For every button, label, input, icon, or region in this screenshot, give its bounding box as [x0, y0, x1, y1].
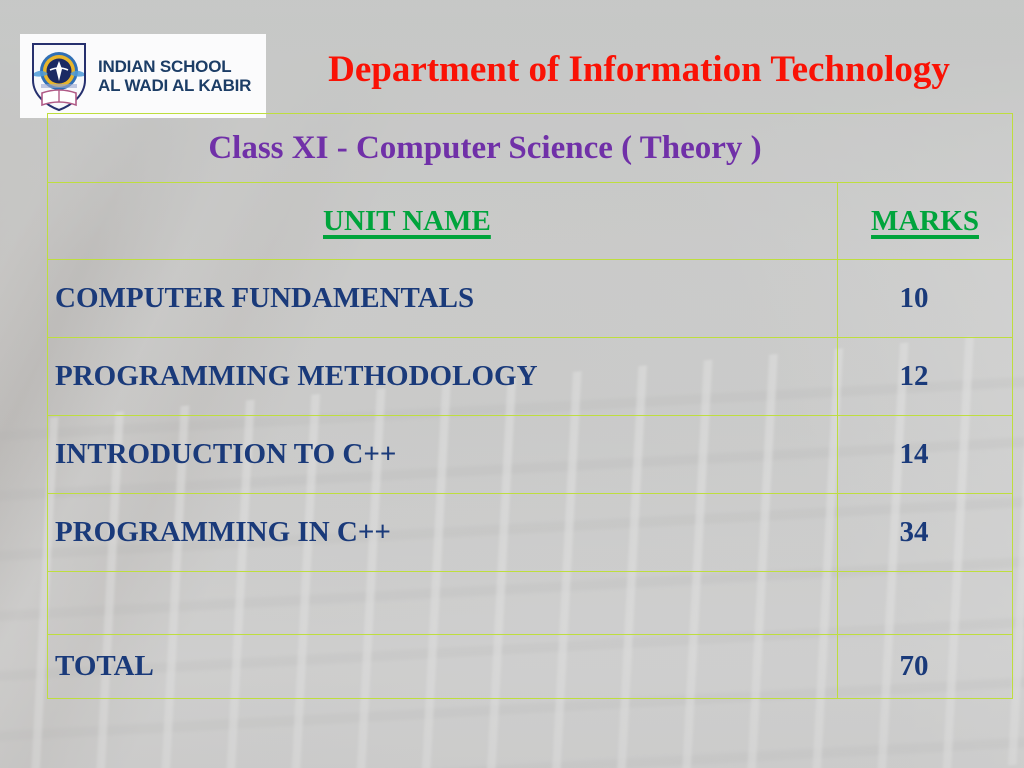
- marks-cell: 10: [838, 260, 1013, 338]
- marks-table: Class XI - Computer Science ( Theory ) U…: [47, 113, 1013, 699]
- class-subject-subtitle: Class XI - Computer Science ( Theory ): [208, 130, 761, 166]
- total-label: TOTAL: [48, 650, 837, 683]
- slide-canvas: INDIAN SCHOOL AL WADI AL KABIR Departmen…: [0, 0, 1024, 768]
- marks-cell: [838, 572, 1013, 635]
- unit-cell: INTRODUCTION TO C++: [48, 416, 838, 494]
- marks-cell: 14: [838, 416, 1013, 494]
- unit-cell: PROGRAMMING METHODOLOGY: [48, 338, 838, 416]
- unit-name-label: COMPUTER FUNDAMENTALS: [48, 282, 837, 315]
- table-row: COMPUTER FUNDAMENTALS 10: [48, 260, 1013, 338]
- marks-value: 10: [838, 282, 1012, 315]
- school-name-line-2: AL WADI AL KABIR: [98, 76, 251, 95]
- column-header-marks: MARKS: [871, 205, 979, 238]
- department-title: Department of Information Technology: [266, 48, 1012, 91]
- school-logo-card: INDIAN SCHOOL AL WADI AL KABIR: [20, 34, 266, 118]
- marks-cell: 12: [838, 338, 1013, 416]
- school-logo-text: INDIAN SCHOOL AL WADI AL KABIR: [98, 57, 251, 95]
- unit-cell: COMPUTER FUNDAMENTALS: [48, 260, 838, 338]
- school-crest-shield-icon: [28, 40, 90, 112]
- unit-cell: PROGRAMMING IN C++: [48, 494, 838, 572]
- table-header-row: UNIT NAME MARKS: [48, 183, 1013, 260]
- header-cell-unit: UNIT NAME: [48, 183, 838, 260]
- total-label-cell: TOTAL: [48, 635, 838, 699]
- table-row: PROGRAMMING METHODOLOGY 12: [48, 338, 1013, 416]
- unit-name-label: PROGRAMMING IN C++: [48, 516, 837, 549]
- subtitle-cell: Class XI - Computer Science ( Theory ): [48, 114, 1013, 183]
- total-marks-value: 70: [838, 650, 1012, 683]
- unit-cell: [48, 572, 838, 635]
- total-marks-cell: 70: [838, 635, 1013, 699]
- marks-cell: 34: [838, 494, 1013, 572]
- table-row: INTRODUCTION TO C++ 14: [48, 416, 1013, 494]
- table-row: PROGRAMMING IN C++ 34: [48, 494, 1013, 572]
- header-cell-marks: MARKS: [838, 183, 1013, 260]
- table-row-empty: [48, 572, 1013, 635]
- unit-name-label: PROGRAMMING METHODOLOGY: [48, 360, 837, 393]
- marks-value: 34: [838, 516, 1012, 549]
- table-row-total: TOTAL 70: [48, 635, 1013, 699]
- table-row-subtitle: Class XI - Computer Science ( Theory ): [48, 114, 1013, 183]
- school-name-line-1: INDIAN SCHOOL: [98, 57, 251, 76]
- column-header-unit-name: UNIT NAME: [323, 205, 491, 238]
- marks-value: 14: [838, 438, 1012, 471]
- unit-name-label: INTRODUCTION TO C++: [48, 438, 837, 471]
- marks-value: 12: [838, 360, 1012, 393]
